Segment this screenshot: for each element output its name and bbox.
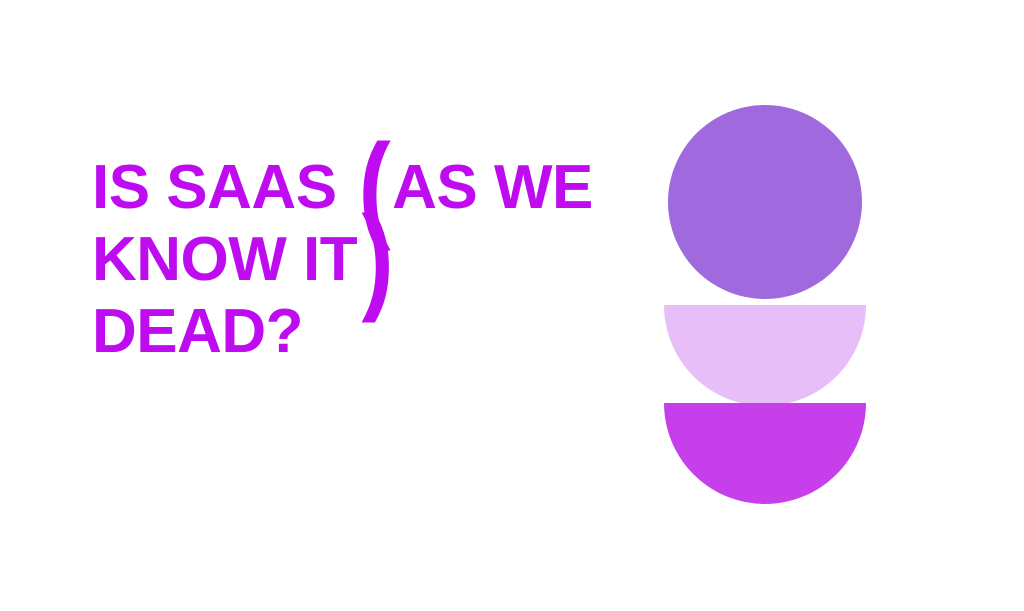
page-title: IS SAAS (AS WE KNOW IT) DEAD? bbox=[92, 152, 652, 368]
half-circle-bright-shape-icon bbox=[664, 403, 866, 504]
headline-line-2: KNOW IT) bbox=[92, 224, 652, 296]
headline-text-as-we: AS WE bbox=[392, 153, 593, 222]
headline-text-know-it: KNOW IT bbox=[92, 225, 357, 294]
slide-canvas: IS SAAS (AS WE KNOW IT) DEAD? bbox=[0, 0, 1024, 611]
half-circle-light-shape-icon bbox=[664, 305, 866, 406]
headline-text-dead: DEAD? bbox=[92, 297, 303, 366]
decorative-shape-stack bbox=[664, 105, 866, 505]
circle-shape-icon bbox=[668, 105, 862, 299]
headline-line-3: DEAD? bbox=[92, 296, 652, 368]
headline-text-is-saas: IS SAAS bbox=[92, 153, 353, 222]
